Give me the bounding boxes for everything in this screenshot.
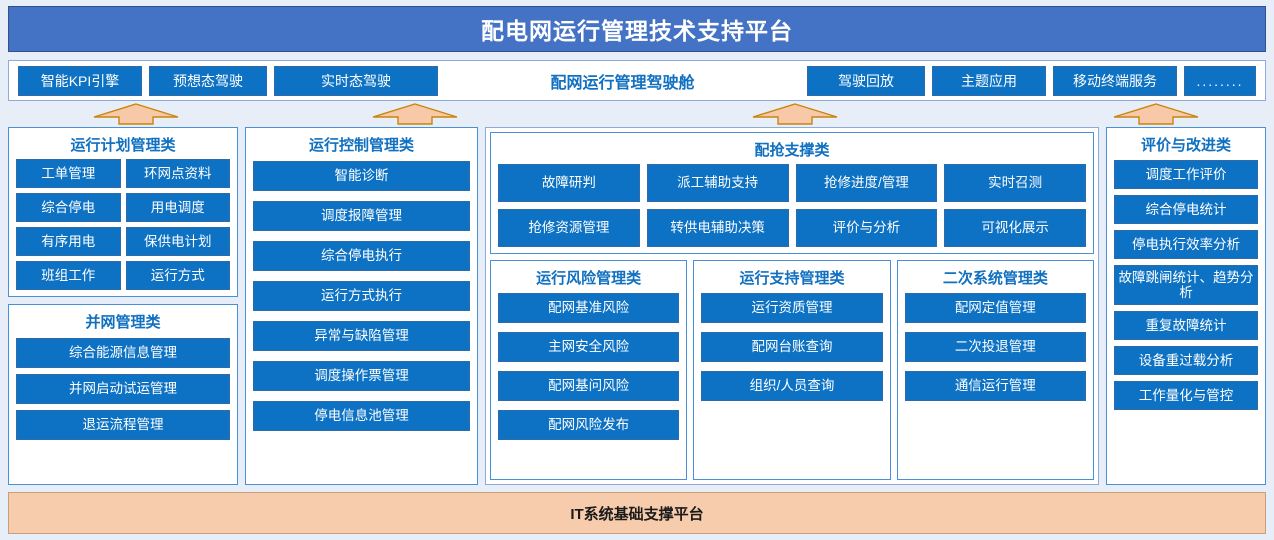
footer-platform-label: IT系统基础支撑平台 — [570, 503, 703, 524]
button-fault-trip-statistics-trend[interactable]: 故障跳闸统计、趋势分析 — [1114, 265, 1258, 305]
button-distribution-risk-publish[interactable]: 配网风险发布 — [498, 410, 679, 440]
panel-body-operation-support: 运行资质管理 配网台账查询 组织/人员查询 — [701, 292, 882, 473]
panel-body-repair-support: 故障研判 派工辅助支持 抢修进度/管理 实时召测 抢修资源管理 转供电辅助决策 … — [498, 164, 1086, 247]
button-evaluation-analysis[interactable]: 评价与分析 — [796, 209, 938, 247]
cockpit-button-replay[interactable]: 驾驶回放 — [807, 66, 925, 96]
button-realtime-polling[interactable]: 实时召测 — [944, 164, 1086, 202]
button-work-order-mgmt[interactable]: 工单管理 — [16, 159, 121, 188]
cockpit-button-forecast[interactable]: 预想态驾驶 — [149, 66, 267, 96]
panel-body-operation-plan: 工单管理 环网点资料 综合停电 用电调度 有序用电 保供电计划 班组工作 运行方… — [16, 159, 230, 290]
panel-title-evaluation-improvement: 评价与改进类 — [1114, 132, 1258, 159]
panel-operation-control: 运行控制管理类 智能诊断 调度报障管理 综合停电执行 运行方式执行 异常与缺陷管… — [245, 127, 478, 485]
cockpit-button-kpi[interactable]: 智能KPI引擎 — [18, 66, 142, 96]
footer-platform-bar: IT系统基础支撑平台 — [8, 492, 1266, 534]
button-communication-operation-mgmt[interactable]: 通信运行管理 — [905, 371, 1086, 401]
cockpit-toolbar: 智能KPI引擎 预想态驾驶 实时态驾驶 配网运行管理驾驶舱 驾驶回放 主题应用 … — [8, 60, 1266, 101]
panel-title-grid-connection: 并网管理类 — [16, 309, 230, 336]
arrow-up-plan-icon — [93, 103, 179, 125]
button-operation-mode-execution[interactable]: 运行方式执行 — [253, 281, 470, 311]
center-sub-panel-row: 运行风险管理类 配网基准风险 主网安全风险 配网基问风险 配网风险发布 运行支持… — [490, 260, 1094, 480]
panel-title-operation-plan: 运行计划管理类 — [16, 132, 230, 159]
main-content-row: 运行计划管理类 工单管理 环网点资料 综合停电 用电调度 有序用电 保供电计划 … — [8, 127, 1266, 485]
panel-body-operation-risk: 配网基准风险 主网安全风险 配网基问风险 配网风险发布 — [498, 292, 679, 473]
panel-body-evaluation-improvement: 调度工作评价 综合停电统计 停电执行效率分析 故障跳闸统计、趋势分析 重复故障统… — [1114, 159, 1258, 478]
button-integrated-energy-info-mgmt[interactable]: 综合能源信息管理 — [16, 338, 230, 368]
button-outage-efficiency-analysis[interactable]: 停电执行效率分析 — [1114, 230, 1258, 259]
cockpit-button-mobile-service[interactable]: 移动终端服务 — [1053, 66, 1177, 96]
panel-secondary-system: 二次系统管理类 配网定值管理 二次投退管理 通信运行管理 — [897, 260, 1094, 480]
panel-operation-support: 运行支持管理类 运行资质管理 配网台账查询 组织/人员查询 — [693, 260, 890, 480]
panel-title-operation-support: 运行支持管理类 — [701, 265, 882, 292]
button-distribution-ledger-query[interactable]: 配网台账查询 — [701, 332, 882, 362]
button-repeated-fault-statistics[interactable]: 重复故障统计 — [1114, 311, 1258, 340]
panel-title-secondary-system: 二次系统管理类 — [905, 265, 1086, 292]
cockpit-button-theme-app[interactable]: 主题应用 — [932, 66, 1046, 96]
button-org-personnel-query[interactable]: 组织/人员查询 — [701, 371, 882, 401]
arrow-up-support-icon — [752, 103, 838, 125]
button-outage-info-pool-mgmt[interactable]: 停电信息池管理 — [253, 401, 470, 431]
button-operation-qualification-mgmt[interactable]: 运行资质管理 — [701, 293, 882, 323]
button-intelligent-diagnosis[interactable]: 智能诊断 — [253, 161, 470, 191]
button-fault-analysis[interactable]: 故障研判 — [498, 164, 640, 202]
button-anomaly-defect-mgmt[interactable]: 异常与缺陷管理 — [253, 321, 470, 351]
arrow-up-control-icon — [372, 103, 458, 125]
button-dispatch-fault-report-mgmt[interactable]: 调度报障管理 — [253, 201, 470, 231]
button-team-work[interactable]: 班组工作 — [16, 261, 121, 290]
button-ring-network-data[interactable]: 环网点资料 — [126, 159, 231, 188]
panel-title-repair-support: 配抢支撑类 — [498, 137, 1086, 164]
cockpit-button-more[interactable]: ........ — [1184, 66, 1256, 96]
button-work-quantification-control[interactable]: 工作量化与管控 — [1114, 381, 1258, 410]
arrow-up-evaluate-icon — [1113, 103, 1199, 125]
button-grid-startup-trial-mgmt[interactable]: 并网启动试运管理 — [16, 374, 230, 404]
button-decommission-process-mgmt[interactable]: 退运流程管理 — [16, 410, 230, 440]
arrow-connector-row — [8, 101, 1266, 127]
panel-operation-risk: 运行风险管理类 配网基准风险 主网安全风险 配网基问风险 配网风险发布 — [490, 260, 687, 480]
panel-evaluation-improvement: 评价与改进类 调度工作评价 综合停电统计 停电执行效率分析 故障跳闸统计、趋势分… — [1106, 127, 1266, 485]
button-integrated-outage-execution[interactable]: 综合停电执行 — [253, 241, 470, 271]
button-visualization-display[interactable]: 可视化展示 — [944, 209, 1086, 247]
button-dispatch-assist-support[interactable]: 派工辅助支持 — [647, 164, 789, 202]
button-distribution-baseline-risk[interactable]: 配网基准风险 — [498, 293, 679, 323]
panel-body-secondary-system: 配网定值管理 二次投退管理 通信运行管理 — [905, 292, 1086, 473]
button-orderly-power-use[interactable]: 有序用电 — [16, 227, 121, 256]
panel-title-operation-control: 运行控制管理类 — [253, 132, 470, 159]
button-dispatch-work-evaluation[interactable]: 调度工作评价 — [1114, 160, 1258, 189]
button-dispatch-operation-ticket-mgmt[interactable]: 调度操作票管理 — [253, 361, 470, 391]
panel-repair-support: 配抢支撑类 故障研判 派工辅助支持 抢修进度/管理 实时召测 抢修资源管理 转供… — [490, 132, 1094, 254]
column-plan-and-grid: 运行计划管理类 工单管理 环网点资料 综合停电 用电调度 有序用电 保供电计划 … — [8, 127, 238, 485]
button-integrated-outage-statistics[interactable]: 综合停电统计 — [1114, 195, 1258, 224]
page-title-bar: 配电网运行管理技术支持平台 — [8, 6, 1266, 52]
button-power-dispatch[interactable]: 用电调度 — [126, 193, 231, 222]
platform-diagram: 配电网运行管理技术支持平台 智能KPI引擎 预想态驾驶 实时态驾驶 配网运行管理… — [0, 0, 1274, 540]
panel-title-operation-risk: 运行风险管理类 — [498, 265, 679, 292]
panel-operation-plan: 运行计划管理类 工单管理 环网点资料 综合停电 用电调度 有序用电 保供电计划 … — [8, 127, 238, 297]
button-transfer-supply-decision[interactable]: 转供电辅助决策 — [647, 209, 789, 247]
button-secondary-in-out-mgmt[interactable]: 二次投退管理 — [905, 332, 1086, 362]
panel-body-operation-control: 智能诊断 调度报障管理 综合停电执行 运行方式执行 异常与缺陷管理 调度操作票管… — [253, 159, 470, 478]
button-repair-resource-mgmt[interactable]: 抢修资源管理 — [498, 209, 640, 247]
button-main-grid-safety-risk[interactable]: 主网安全风险 — [498, 332, 679, 362]
button-operation-mode[interactable]: 运行方式 — [126, 261, 231, 290]
button-repair-progress-mgmt[interactable]: 抢修进度/管理 — [796, 164, 938, 202]
center-panel-group: 配抢支撑类 故障研判 派工辅助支持 抢修进度/管理 实时召测 抢修资源管理 转供… — [485, 127, 1099, 485]
button-integrated-outage[interactable]: 综合停电 — [16, 193, 121, 222]
panel-body-grid-connection: 综合能源信息管理 并网启动试运管理 退运流程管理 — [16, 336, 230, 440]
cockpit-button-realtime[interactable]: 实时态驾驶 — [274, 66, 438, 96]
button-distribution-question-risk[interactable]: 配网基问风险 — [498, 371, 679, 401]
button-equipment-overload-analysis[interactable]: 设备重过载分析 — [1114, 346, 1258, 375]
panel-grid-connection-mgmt: 并网管理类 综合能源信息管理 并网启动试运管理 退运流程管理 — [8, 304, 238, 485]
cockpit-center-label: 配网运行管理驾驶舱 — [445, 69, 800, 93]
button-distribution-setting-mgmt[interactable]: 配网定值管理 — [905, 293, 1086, 323]
page-title: 配电网运行管理技术支持平台 — [481, 12, 793, 46]
button-power-supply-plan[interactable]: 保供电计划 — [126, 227, 231, 256]
